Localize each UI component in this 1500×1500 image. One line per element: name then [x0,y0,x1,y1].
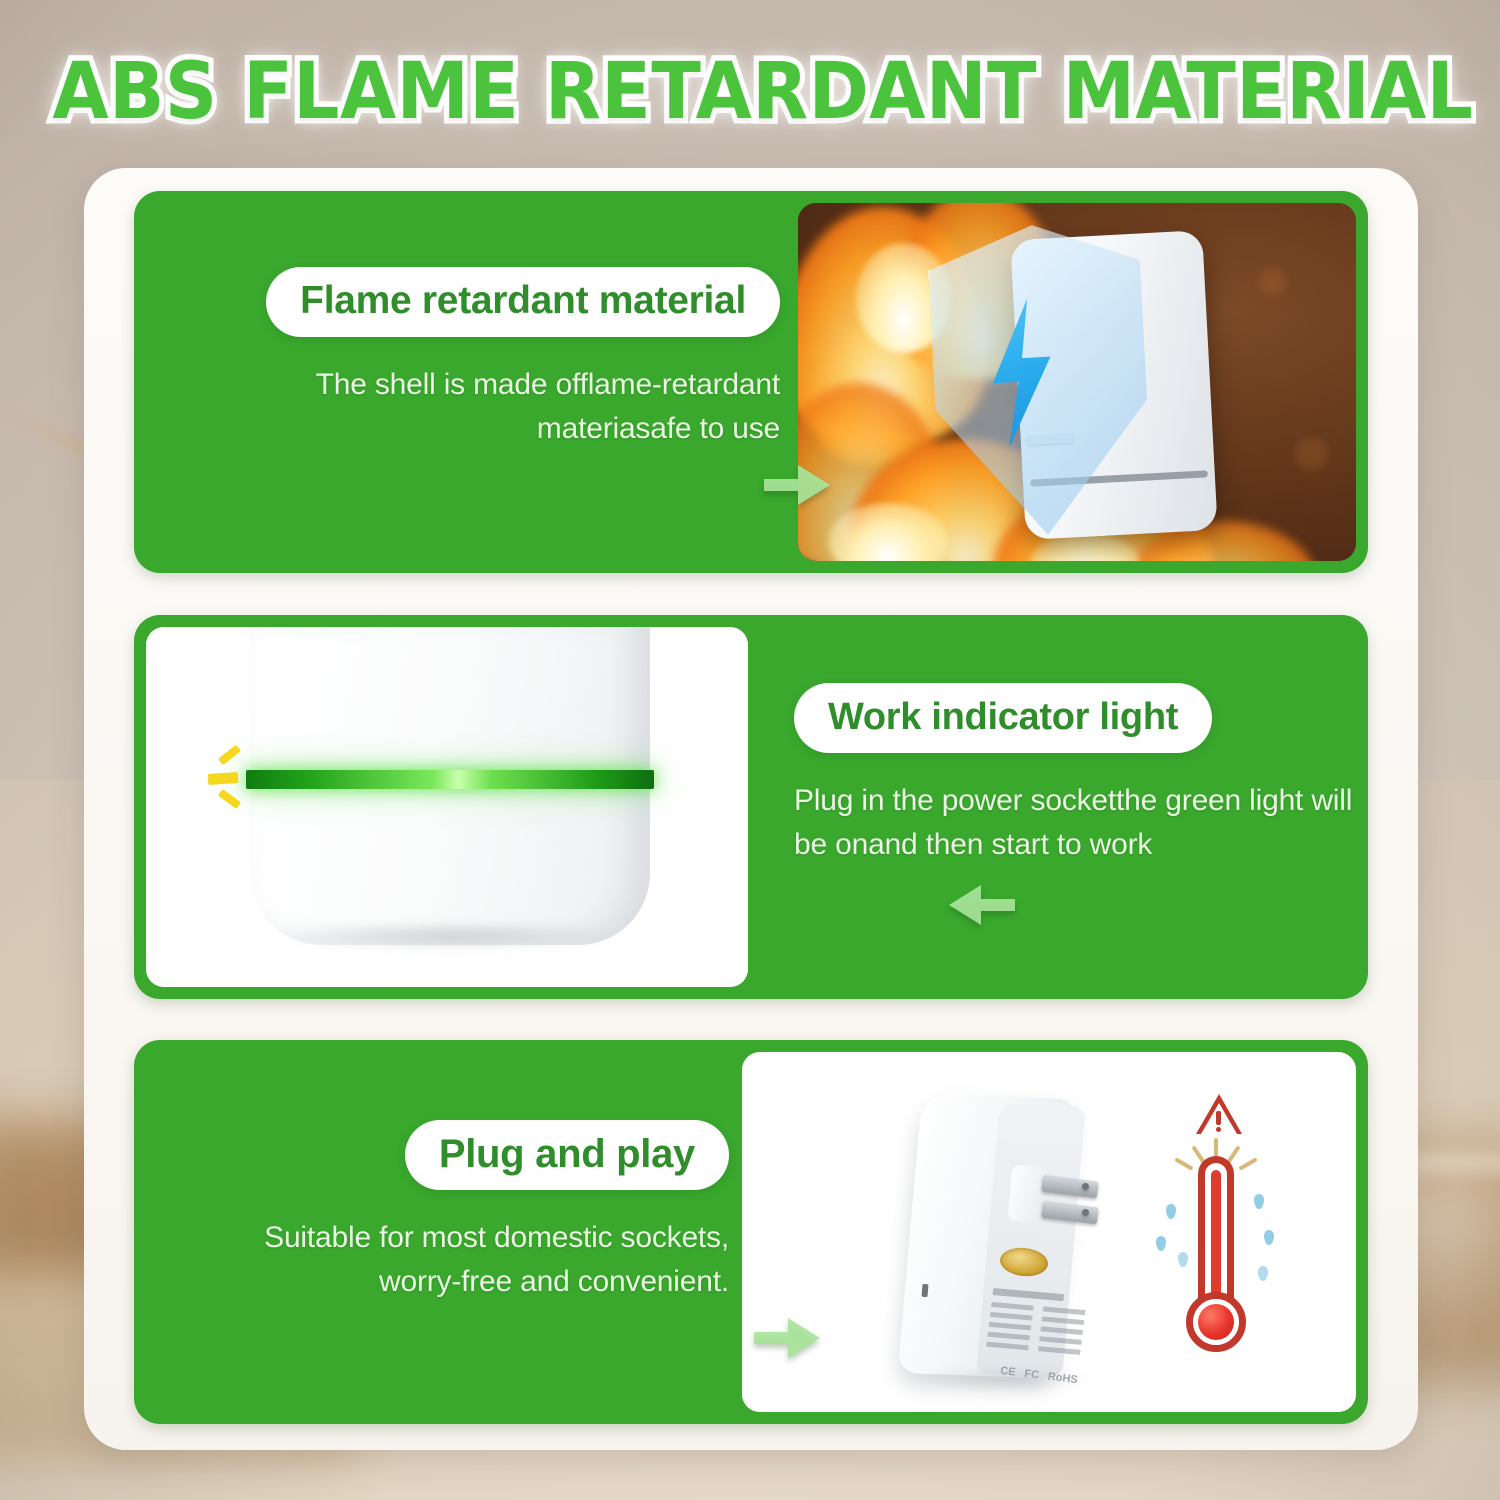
warning-exclamation-dot [1216,1127,1221,1132]
arrow-right-icon [764,463,830,507]
arrow-left-icon [949,883,1015,927]
sweat-drop-icon [1178,1252,1188,1267]
warning-exclamation [1216,1111,1221,1125]
thermometer-bulb-fill [1198,1304,1234,1340]
card-2-pill-label: Work indicator light [794,683,1212,753]
plug-shadow [918,1368,1098,1390]
feature-card-work-indicator: Work indicator light Plug in the power s… [134,615,1368,999]
sweat-drop-icon [1156,1236,1166,1251]
heat-ray-icon [1238,1157,1257,1170]
card-1-text-block: Flame retardant material The shell is ma… [210,267,780,451]
cards-container: Flame retardant material The shell is ma… [84,168,1418,1450]
spark-icon [208,772,239,785]
page-title: ABS FLAME RETARDANT MATERIAL [53,46,1448,138]
card-1-body-text: The shell is made offlame-retardant mate… [210,363,780,451]
fire-scene [798,203,1356,561]
feature-card-plug-and-play: CE FC RoHS [134,1040,1368,1424]
sweat-drop-icon [1166,1204,1176,1219]
infographic-canvas: ABS FLAME RETARDANT MATERIAL [0,0,1500,1500]
card-2-text-block: Work indicator light Plug in the power s… [794,683,1354,867]
sweat-drop-icon [1258,1266,1268,1281]
heat-ray-icon [1174,1157,1193,1170]
card-1-pill-label: Flame retardant material [266,267,780,337]
card-2-body-text: Plug in the power socketthe green light … [794,779,1354,867]
plug-indicator-dot [921,1284,928,1297]
card-3-pill-label: Plug and play [405,1120,729,1190]
plug-scene: CE FC RoHS [742,1052,1356,1412]
spark-icon [218,745,241,765]
feature-card-flame-retardant: Flame retardant material The shell is ma… [134,191,1368,573]
thermometer-mercury [1211,1170,1221,1310]
thermometer-icon [1142,1094,1292,1372]
device-shadow [272,923,628,949]
device-green-led-photo [146,627,748,987]
device-scene [146,627,748,987]
arrow-right-icon [754,1316,820,1360]
card-3-body-text: Suitable for most domestic sockets, worr… [204,1216,729,1304]
sweat-drop-icon [1264,1230,1274,1245]
card-3-text-block: Plug and play Suitable for most domestic… [204,1120,729,1304]
plug-thermometer-photo: CE FC RoHS [742,1052,1356,1412]
sweat-drop-icon [1254,1194,1264,1209]
spark-icon [218,789,241,809]
fire-shield-plug-photo [798,203,1356,561]
green-led-strip [246,770,654,789]
